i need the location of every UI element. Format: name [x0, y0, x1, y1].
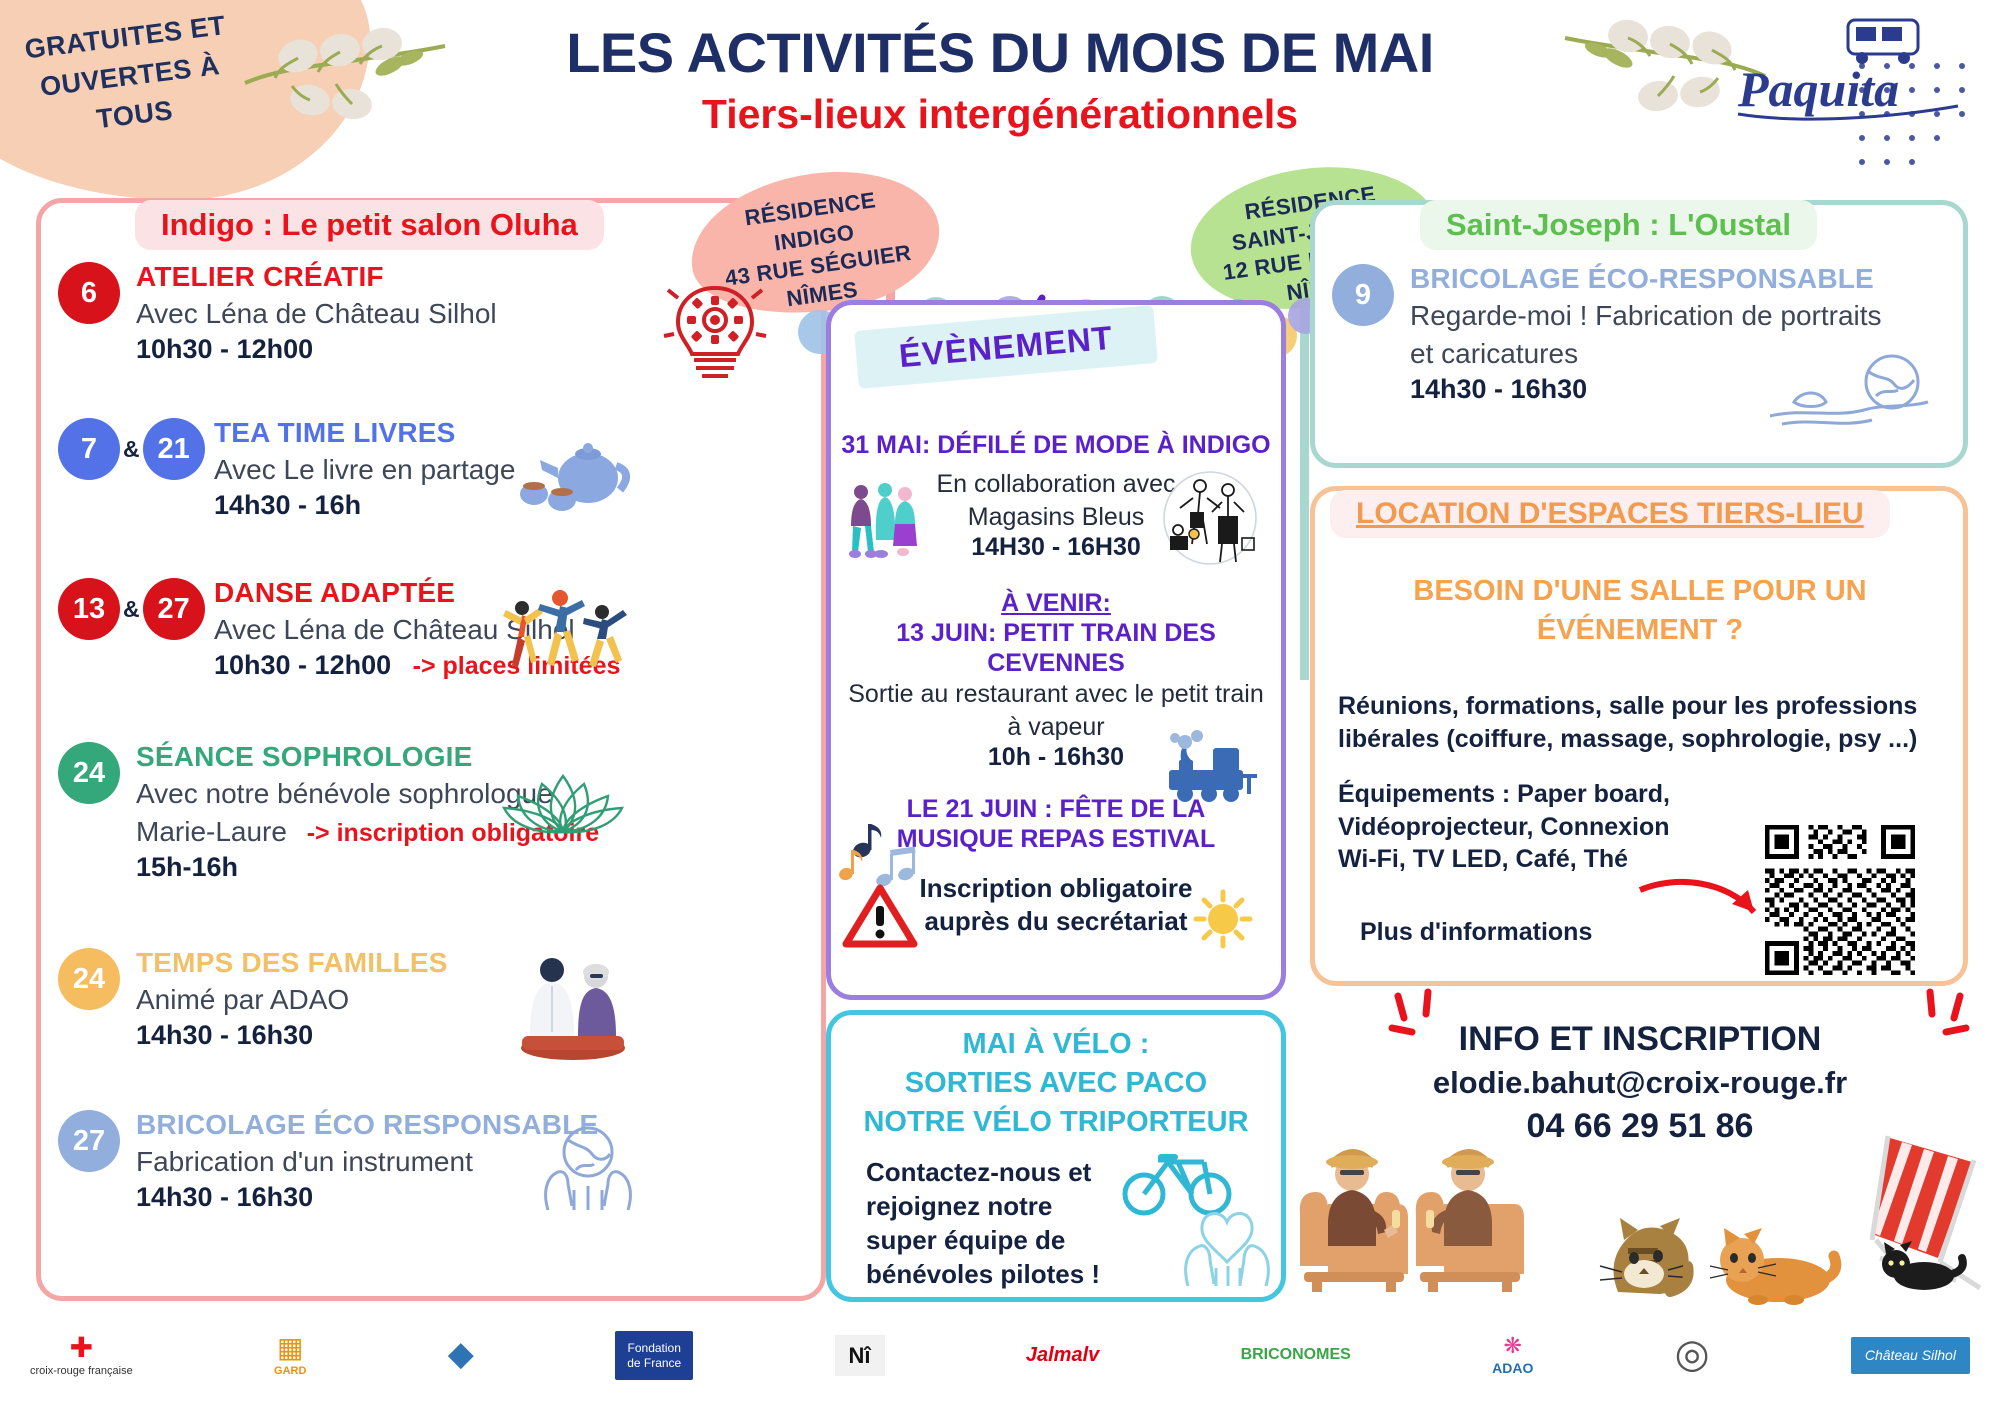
presenter-name: Marie-Laure — [136, 816, 287, 847]
activity-day-badges: 13 & 27 — [58, 578, 205, 640]
activity-name: TEA TIME LIVRES — [214, 418, 758, 449]
velo-body-line-3: super équipe de — [866, 1224, 1136, 1258]
qr-code[interactable] — [1760, 820, 1920, 980]
day-badge: 21 — [143, 418, 205, 480]
activity-danse-adaptee[interactable]: 13 & 27 DANSE ADAPTÉE Avec Léna de Châte… — [58, 578, 758, 681]
location-paragraph-1: Réunions, formations, salle pour les pro… — [1338, 690, 1948, 755]
activity-name: BRICOLAGE ÉCO RESPONSABLE — [136, 1110, 758, 1141]
footer-logo-jalmalv: Jalmalv — [1026, 1344, 1099, 1367]
indigo-card-title: Indigo : Le petit salon Oluha — [135, 200, 604, 250]
deckchair-cat-icon — [1860, 1128, 2000, 1298]
region-shape-icon: ◆ — [448, 1337, 474, 1371]
family-icon — [508, 948, 638, 1058]
footer-logo-label: Jalmalv — [1026, 1344, 1099, 1367]
velo-title-line-2: SORTIES AVEC PACO — [836, 1064, 1276, 1103]
activity-time-value: 10h30 - 12h00 — [214, 650, 391, 680]
page-subtitle: Tiers-lieux intergénérationnels — [440, 91, 1560, 138]
activity-name: TEMPS DES FAMILLES — [136, 948, 758, 979]
activity-desc-line-1: Regarde-moi ! Fabrication de portraits — [1410, 298, 1932, 333]
adao-tree-icon: ❋ — [1504, 1335, 1522, 1357]
poster-header: LES ACTIVITÉS DU MOIS DE MAI Tiers-lieux… — [440, 20, 1560, 138]
activity-tea-time-livres[interactable]: 7 & 21 TEA TIME LIVRES Avec Le livre en … — [58, 418, 758, 521]
lightbulb-gear-icon — [660, 270, 770, 390]
activity-day-badges: 9 — [1332, 264, 1394, 326]
activity-presenter: Avec Le livre en partage — [214, 452, 758, 487]
footer-logo-label: BRICONOMES — [1241, 1346, 1351, 1364]
activity-time: 14h30 - 16h — [214, 490, 758, 521]
footer-logo-label: Fondation de France — [615, 1331, 693, 1380]
location-headline-line-2: ÉVÉNEMENT ? — [1330, 611, 1950, 650]
footer-logo-fondation-de-france: Fondation de France — [615, 1331, 693, 1380]
activity-time: 10h30 - 12h00 -> places limitées — [214, 650, 758, 681]
event-upcoming-title-2: CEVENNES — [836, 648, 1276, 678]
gard-grid-icon: ▦ — [277, 1334, 303, 1362]
activity-time: 14h30 - 16h30 — [136, 1020, 758, 1051]
contact-email[interactable]: elodie.bahut@croix-rouge.fr — [1320, 1065, 1960, 1101]
ampersand-separator: & — [123, 596, 140, 623]
footer-logo-croix-rouge: ✚ croix-rouge française — [30, 1334, 133, 1378]
footer-logo-region: ◆ — [448, 1337, 474, 1374]
tabby-cat-icon — [1592, 1200, 1702, 1300]
page-title: LES ACTIVITÉS DU MOIS DE MAI — [440, 20, 1560, 85]
ampersand-separator: & — [123, 436, 140, 463]
activity-presenter-line-2: Marie-Laure -> inscription obligatoire — [136, 814, 758, 849]
footer-logo-label: GARD — [274, 1365, 306, 1378]
location-p2-line-2: Vidéoprojecteur, Connexion — [1338, 811, 1758, 844]
activity-temps-des-familles[interactable]: 24 TEMPS DES FAMILLES Animé par ADAO 14h… — [58, 948, 758, 1051]
paquita-wordmark: Paquita — [1737, 61, 1899, 117]
velo-title-line-1: MAI À VÉLO : — [836, 1025, 1276, 1064]
activity-time: 14h30 - 16h30 — [136, 1182, 758, 1213]
event-upcoming-title-1: 13 JUIN: PETIT TRAIN DES — [836, 618, 1276, 648]
footer-logo-label: Nî — [835, 1335, 885, 1376]
globe-eco-icon — [1764, 346, 1934, 436]
fashion-people-icon — [845, 478, 920, 558]
location-p2-line-1: Équipements : Paper board, — [1338, 778, 1758, 811]
activity-atelier-creatif[interactable]: 6 ATELIER CRÉATIF Avec Léna de Château S… — [58, 262, 758, 365]
footer-logo-seal: ◎ — [1675, 1334, 1710, 1377]
footer-logo-gard: ▦ GARD — [274, 1334, 306, 1378]
velo-body-line-2: rejoignez notre — [866, 1190, 1136, 1224]
seal-icon: ◎ — [1675, 1334, 1710, 1374]
saintjoseph-card-title: Saint-Joseph : L'Oustal — [1420, 200, 1817, 250]
curved-arrow-icon — [1636, 876, 1766, 940]
activity-name: SÉANCE SOPHROLOGIE — [136, 742, 758, 773]
activity-presenter: Avec notre bénévole sophrologue — [136, 776, 758, 811]
teapot-icon — [518, 436, 638, 516]
day-badge: 27 — [58, 1110, 120, 1172]
activity-day-badges: 7 & 21 — [58, 418, 205, 480]
fashion-sketch-icon — [1160, 468, 1260, 568]
footer-logo-label: Château Silhol — [1851, 1337, 1970, 1373]
activity-presenter: Avec Léna de Château Silhol — [214, 612, 758, 647]
activity-presenter: Fabrication d'un instrument — [136, 1144, 758, 1179]
footer-logo-label: croix-rouge française — [30, 1365, 133, 1378]
warning-triangle-icon — [844, 884, 916, 948]
location-card-title: LOCATION D'ESPACES TIERS-LIEU — [1330, 490, 1890, 538]
day-badge: 6 — [58, 262, 120, 324]
activity-day-badges: 24 — [58, 948, 120, 1010]
activity-name: DANSE ADAPTÉE — [214, 578, 758, 609]
location-paragraph-2: Équipements : Paper board, Vidéoprojecte… — [1338, 778, 1758, 876]
seniors-in-armchairs-icon — [1296, 1118, 1526, 1293]
day-badge: 24 — [58, 948, 120, 1010]
location-headline-line-1: BESOIN D'UNE SALLE POUR UN — [1330, 572, 1950, 611]
paquita-logo: Paquita — [1730, 14, 1970, 124]
footer-logo-label: ADAO — [1492, 1360, 1533, 1376]
activity-time: 15h-16h — [136, 852, 758, 883]
lotus-icon — [498, 762, 628, 837]
footer-logo-briconomes: BRICONOMES — [1241, 1346, 1351, 1364]
location-p2-line-3: Wi-Fi, TV LED, Café, Thé — [1338, 843, 1758, 876]
footer-logo-strip: ✚ croix-rouge française ▦ GARD ◆ Fondati… — [30, 1308, 1970, 1403]
footer-logo-ni: Nî — [835, 1335, 885, 1376]
activity-day-badges: 6 — [58, 262, 120, 324]
day-badge: 27 — [143, 578, 205, 640]
footer-logo-adao: ❋ ADAO — [1492, 1335, 1533, 1376]
location-more-info: Plus d'informations — [1360, 916, 1660, 949]
orange-cat-icon — [1708, 1218, 1838, 1306]
location-p1-line-2: libérales (coiffure, massage, sophrologi… — [1338, 723, 1948, 756]
day-badge: 9 — [1332, 264, 1394, 326]
floral-branch-left-icon — [240, 28, 450, 118]
velo-body-line-4: bénévoles pilotes ! — [866, 1258, 1136, 1292]
activity-day-badges: 27 — [58, 1110, 120, 1172]
activity-bricolage-eco-responsable[interactable]: 27 BRICOLAGE ÉCO RESPONSABLE Fabrication… — [58, 1110, 758, 1213]
activity-presenter: Animé par ADAO — [136, 982, 758, 1017]
sparkle-left-icon — [1388, 988, 1458, 1058]
velo-title-line-3: NOTRE VÉLO TRIPORTEUR — [836, 1103, 1276, 1142]
activity-seance-sophrologie[interactable]: 24 SÉANCE SOPHROLOGIE Avec notre bénévol… — [58, 742, 758, 883]
hands-heart-icon — [1172, 1194, 1282, 1289]
event-upcoming-label: À VENIR: — [836, 588, 1276, 618]
earth-in-hands-icon — [528, 1118, 648, 1213]
event-upcoming-desc-1: Sortie au restaurant avec le petit train — [836, 678, 1276, 711]
red-cross-icon: ✚ — [70, 1334, 93, 1362]
footer-logo-chateau-silhol: Château Silhol — [1851, 1337, 1970, 1373]
event-main-date: 31 MAI: DÉFILÉ DE MODE À INDIGO — [836, 430, 1276, 460]
dancers-icon — [498, 586, 628, 671]
activity-day-badges: 24 — [58, 742, 120, 804]
day-badge: 13 — [58, 578, 120, 640]
steam-train-icon — [1155, 730, 1265, 805]
velo-body-line-1: Contactez-nous et — [866, 1156, 1136, 1190]
location-p1-line-1: Réunions, formations, salle pour les pro… — [1338, 690, 1948, 723]
sun-icon — [1192, 888, 1254, 950]
activity-name: BRICOLAGE ÉCO-RESPONSABLE — [1410, 264, 1932, 295]
sparkle-right-icon — [1900, 988, 1970, 1058]
day-badge: 7 — [58, 418, 120, 480]
location-headline: BESOIN D'UNE SALLE POUR UN ÉVÉNEMENT ? — [1330, 572, 1950, 650]
day-badge: 24 — [58, 742, 120, 804]
